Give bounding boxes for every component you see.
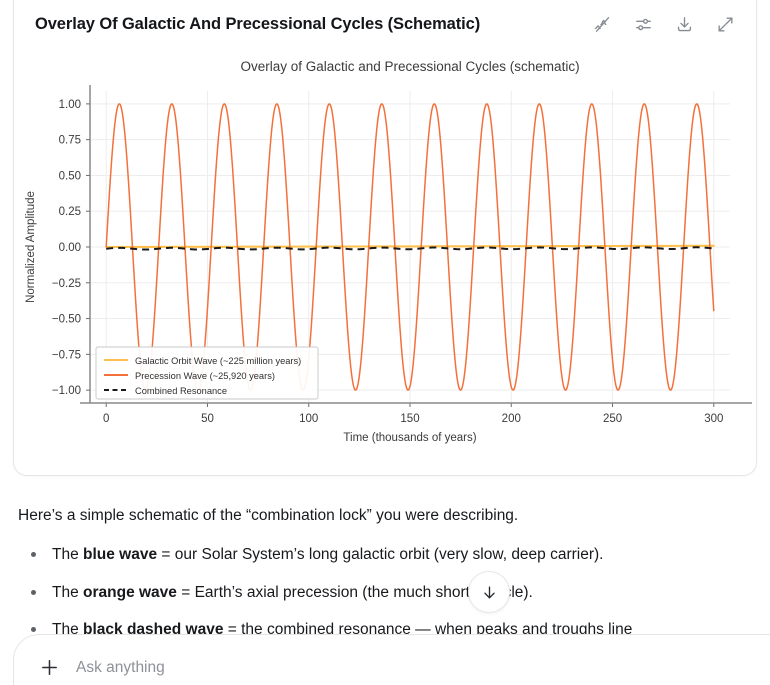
series-galactic-orbit-wave [106,246,714,247]
app-root: Overlay Of Galactic And Precessional Cyc… [0,0,770,685]
card-header: Overlay Of Galactic And Precessional Cyc… [14,1,756,47]
chart-container: Overlay of Galactic and Precessional Cyc… [14,49,757,469]
y-tick-label: 0.00 [59,242,81,254]
card-action-buttons [591,13,736,35]
expand-icon[interactable] [714,13,736,35]
add-attachment-icon[interactable] [36,655,62,681]
cycles-line-chart: Overlay of Galactic and Precessional Cyc… [14,49,757,469]
list-item: The blue wave = our Solar System’s long … [18,543,763,566]
ask-input[interactable]: Ask anything [76,659,770,677]
arrow-down-icon [481,584,498,601]
legend-label: Combined Resonance [135,386,227,396]
x-tick-label: 250 [603,413,622,425]
y-tick-label: −0.25 [52,278,81,290]
legend-label: Precession Wave (~25,920 years) [135,371,275,381]
message-lead: Here’s a simple schematic of the “combin… [18,505,763,527]
y-tick-label: 0.75 [59,135,81,147]
bullet-emphasis: blue wave [83,546,157,563]
hide-chart-icon[interactable] [591,13,613,35]
assistant-message: Here’s a simple schematic of the “combin… [18,505,763,655]
settings-sliders-icon[interactable] [632,13,654,35]
list-item: The orange wave = Earth’s axial precessi… [18,581,763,604]
message-bullets: The blue wave = our Solar System’s long … [18,543,763,641]
x-tick-label: 300 [704,413,723,425]
x-axis-label: Time (thousands of years) [343,432,476,444]
bullet-prefix: The [52,584,83,601]
y-tick-label: −0.50 [52,314,81,326]
chart-title: Overlay of Galactic and Precessional Cyc… [240,59,579,74]
y-axis-label: Normalized Amplitude [25,191,37,303]
x-tick-label: 100 [299,413,318,425]
y-tick-label: 0.50 [59,170,81,182]
chart-artifact-card: Overlay Of Galactic And Precessional Cyc… [13,0,757,476]
composer-bar: Ask anything [13,634,770,685]
chart-legend: Galactic Orbit Wave (~225 million years)… [96,347,318,399]
y-tick-label: 1.00 [59,99,81,111]
y-tick-label: 0.25 [59,206,81,218]
x-tick-label: 50 [201,413,214,425]
bullet-emphasis: orange wave [83,584,177,601]
y-tick-label: −1.00 [52,385,81,397]
download-icon[interactable] [673,13,695,35]
bullet-prefix: The [52,546,83,563]
legend-label: Galactic Orbit Wave (~225 million years) [135,356,301,366]
x-tick-label: 150 [400,413,419,425]
x-tick-label: 0 [103,413,109,425]
scroll-to-bottom-button[interactable] [468,571,510,613]
x-tick-label: 200 [502,413,521,425]
y-tick-label: −0.75 [52,349,81,361]
bullet-suffix: = our Solar System’s long galactic orbit… [157,546,603,563]
card-title: Overlay Of Galactic And Precessional Cyc… [35,15,480,34]
